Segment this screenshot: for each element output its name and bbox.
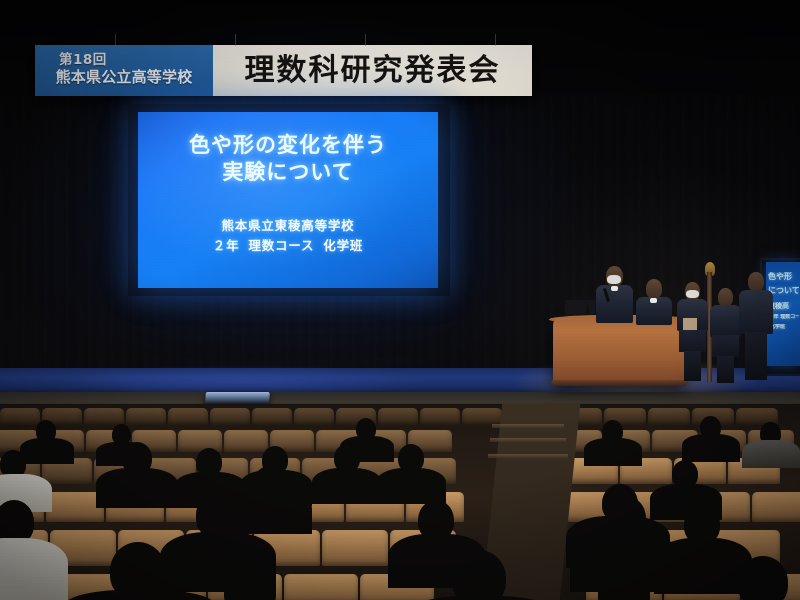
shirt-collar — [611, 286, 618, 291]
shirt-collar — [650, 298, 657, 303]
auditorium-seating — [0, 404, 800, 600]
monitor-detail-line1: 2年 理数コース — [770, 314, 799, 322]
banner-edition-label: 第18回 — [59, 54, 107, 68]
podium-base — [551, 380, 687, 386]
presenter-head — [646, 279, 662, 299]
face-mask-icon — [686, 290, 699, 298]
presenter-torso — [710, 305, 741, 337]
slide-title-line1: 色や形の変化を伴う — [138, 132, 438, 159]
slide-grade: ２年 — [213, 238, 240, 253]
presenter-legs — [717, 356, 734, 383]
slide-title: 色や形の変化を伴う 実験について — [138, 132, 438, 187]
slide-team: 化学班 — [323, 238, 363, 253]
face-mask-icon — [607, 275, 621, 284]
staff-head — [748, 272, 764, 292]
projected-slide: 色や形の変化を伴う 実験について 熊本県立東稜高等学校 ２年理数コース化学班 — [138, 112, 438, 288]
banner-title-panel: 理数科研究発表会 — [213, 45, 532, 96]
presenter-skirt — [679, 330, 706, 352]
banner-organizer-label: 熊本県公立高等学校 — [56, 70, 193, 86]
presenter-skirt — [712, 335, 739, 357]
aisle-step — [492, 424, 564, 428]
staff-legs — [745, 332, 767, 380]
monitor-title-line1: 色や形 — [768, 272, 799, 282]
auditorium-photo: 第18回 熊本県公立高等学校 理数科研究発表会 色や形の変化を伴う 実験について… — [0, 0, 800, 600]
staff-torso — [739, 290, 773, 334]
slide-affiliation: ２年理数コース化学班 — [138, 236, 438, 256]
banner-hook-icon — [235, 34, 236, 46]
podium — [553, 318, 685, 384]
aisle-step — [488, 454, 568, 458]
monitor-detail-line2: 化学班 — [770, 324, 799, 332]
slide-subtitle: 熊本県立東稜高等学校 ２年理数コース化学班 — [138, 216, 438, 257]
event-banner: 第18回 熊本県公立高等学校 理数科研究発表会 — [35, 45, 532, 96]
slide-title-line2: 実験について — [138, 159, 438, 186]
banner-hook-icon — [495, 34, 496, 46]
slide-school: 熊本県立東稜高等学校 — [138, 216, 438, 236]
banner-event-title: 理数科研究発表会 — [245, 56, 501, 86]
aisle-step — [490, 438, 566, 442]
banner-hook-icon — [365, 34, 366, 46]
presenter-legs — [684, 351, 701, 381]
banner-blue-panel: 第18回 熊本県公立高等学校 — [35, 45, 213, 96]
slide-course: 理数コース — [248, 238, 314, 253]
banner-hook-icon — [115, 34, 116, 46]
